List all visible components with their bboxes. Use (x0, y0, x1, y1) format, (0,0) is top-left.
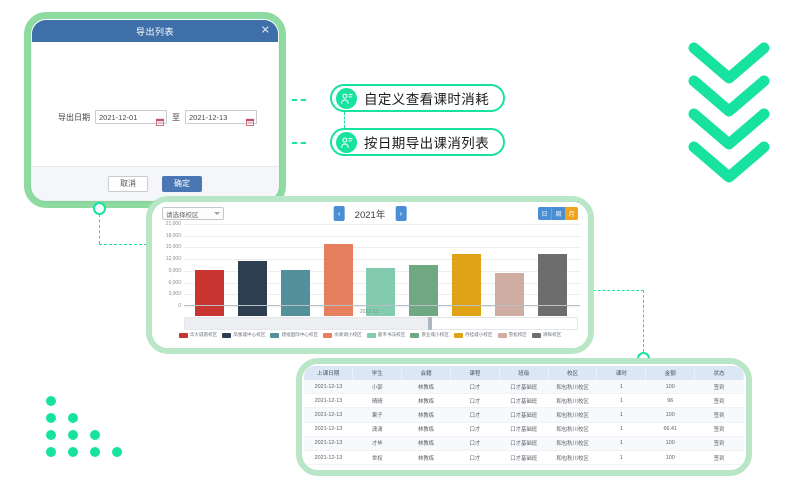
table-cell: 口才 (450, 450, 499, 464)
export-dialog: 导出列表 ✕ 导出日期 2021-12-01 至 2021-12-13 (32, 20, 278, 200)
calendar-icon[interactable] (246, 113, 254, 121)
table-column-header: 状态 (695, 366, 744, 380)
table-header-row: 上课日期学生会籍课程班级校区课时金额状态 (304, 366, 744, 380)
legend-label: 清晖校区 (543, 332, 561, 338)
table-cell: 和包秋川校区 (548, 380, 597, 394)
chart-toolbar: 请选择校区 ‹ 2021年 › 日 周 月 (152, 202, 588, 224)
table-column-header: 班级 (499, 366, 548, 380)
range-button-month[interactable]: 月 (565, 207, 578, 220)
callout-label: 按日期导出课消列表 (364, 132, 489, 152)
y-axis-tick: 12,000 (166, 256, 181, 262)
table-row[interactable]: 2021-12-13才毕林教练口才口才基础班和包秋川校区1100签到 (304, 436, 744, 450)
legend-swatch (222, 333, 231, 338)
year-label: 2021年 (355, 207, 386, 221)
export-date-row: 导出日期 2021-12-01 至 2021-12-13 (58, 110, 257, 124)
legend-item[interactable]: 建福国际中心校区 (270, 332, 318, 338)
bar[interactable] (495, 273, 524, 316)
table-cell: 口才 (450, 394, 499, 408)
table-cell: 100 (646, 380, 695, 394)
table-row[interactable]: 2021-12-13潇潇林教练口才口才基础班和包秋川校区166.41签到 (304, 422, 744, 436)
table-column-header: 学生 (353, 366, 402, 380)
legend-swatch (454, 333, 463, 338)
table-cell: 签到 (695, 450, 744, 464)
table-cell: 和包秋川校区 (548, 422, 597, 436)
table-cell: 口才基础班 (499, 380, 548, 394)
table-row[interactable]: 2021-12-13世权林教练口才口才基础班和包秋川校区1100签到 (304, 450, 744, 464)
table-cell: 2021-12-13 (304, 394, 353, 408)
callout-linker (344, 112, 345, 128)
legend-swatch (270, 333, 279, 338)
table-cell: 林教练 (402, 450, 451, 464)
bar[interactable] (281, 270, 310, 316)
table-cell: 口才 (450, 380, 499, 394)
table-cell: 口才 (450, 422, 499, 436)
table-cell: 1 (597, 450, 646, 464)
slider-fill (185, 318, 428, 329)
chevron-down-icon (686, 139, 772, 185)
records-table-panel: 上课日期学生会籍课程班级校区课时金额状态 2021-12-13小郭林教练口才口才… (304, 366, 744, 468)
legend-label: 雪松校区 (509, 332, 527, 338)
callout-tail-1 (292, 99, 306, 101)
y-axis-tick: 3,000 (168, 291, 181, 297)
callout-custom-view: 自定义查看课时消耗 (330, 84, 505, 112)
legend-item[interactable]: 丹桂城小校区 (454, 332, 493, 338)
grid-line (184, 224, 580, 225)
table-column-header: 课程 (450, 366, 499, 380)
date-to-value: 2021-12-13 (189, 113, 246, 122)
table-cell: 2021-12-13 (304, 436, 353, 450)
bar-series (188, 234, 574, 316)
table-cell: 签到 (695, 422, 744, 436)
table-cell: 和包秋川校区 (548, 436, 597, 450)
legend-label: 丹桂城小校区 (465, 332, 493, 338)
bar[interactable] (409, 265, 438, 316)
legend-item[interactable]: 景业城小校区 (410, 332, 449, 338)
date-to-input[interactable]: 2021-12-13 (185, 110, 257, 124)
table-cell: 1 (597, 394, 646, 408)
dialog-footer: 取消 确定 (32, 166, 278, 200)
table-cell: 和包秋川校区 (548, 408, 597, 422)
table-cell: 晴晴 (353, 394, 402, 408)
table-cell: 口才基础班 (499, 436, 548, 450)
legend-label: 华大城南校区 (190, 332, 218, 338)
export-date-label: 导出日期 (58, 112, 90, 123)
table-cell: 和包秋川校区 (548, 394, 597, 408)
chart-range-slider[interactable] (184, 317, 578, 330)
table-cell: 和包秋川校区 (548, 450, 597, 464)
table-column-header: 校区 (548, 366, 597, 380)
legend-label: 嘉禾书法校区 (378, 332, 406, 338)
table-cell: 林教练 (402, 394, 451, 408)
legend-swatch (179, 333, 188, 338)
table-cell: 小郭 (353, 380, 402, 394)
legend-label: 景业城小校区 (421, 332, 449, 338)
connector-dialog-horizontal (99, 244, 147, 245)
table-cell: 潇潇 (353, 422, 402, 436)
dot-decoration-group (46, 396, 132, 458)
user-check-icon (336, 88, 357, 109)
confirm-button[interactable]: 确定 (162, 176, 202, 193)
bar[interactable] (195, 270, 224, 316)
legend-item[interactable]: 华大城南校区 (179, 332, 218, 338)
connector-table-horizontal (588, 290, 644, 291)
table-cell: 口才 (450, 408, 499, 422)
bar[interactable] (538, 254, 567, 316)
canvas: 导出列表 ✕ 导出日期 2021-12-01 至 2021-12-13 (0, 0, 800, 500)
table-cell: 2021-12-13 (304, 380, 353, 394)
table-cell: 签到 (695, 408, 744, 422)
calendar-icon[interactable] (156, 113, 164, 121)
table-cell: 100 (646, 450, 695, 464)
legend-swatch (532, 333, 541, 338)
table-cell: 66.41 (646, 422, 695, 436)
date-range-separator: 至 (172, 112, 180, 123)
range-toggle-group: 日 周 月 (538, 207, 578, 220)
dialog-title: 导出列表 (136, 25, 174, 38)
table-cell: 口才基础班 (499, 408, 548, 422)
y-axis-tick: 21,000 (166, 221, 181, 227)
legend-item[interactable]: 嘉禾书法校区 (367, 332, 406, 338)
table-row[interactable]: 2021-12-13晴晴林教练口才口才基础班和包秋川校区196签到 (304, 394, 744, 408)
table-cell: 口才基础班 (499, 394, 548, 408)
table-cell: 口才基础班 (499, 422, 548, 436)
prev-year-button[interactable]: ‹ (334, 206, 345, 221)
table-body: 2021-12-13小郭林教练口才口才基础班和包秋川校区1100签到2021-1… (304, 380, 744, 465)
connector-table-vertical (643, 290, 644, 352)
y-axis-tick: 6,000 (168, 280, 181, 286)
bar-chart: 03,0006,0009,00012,00015,00018,00021,000… (158, 224, 580, 316)
connector-dialog-vertical (99, 214, 100, 244)
table-cell: 世权 (353, 450, 402, 464)
table-row[interactable]: 2021-12-13果子林教练口才口才基础班和包秋川校区1100签到 (304, 408, 744, 422)
user-check-icon (336, 132, 357, 153)
bar[interactable] (452, 254, 481, 316)
table-cell: 签到 (695, 380, 744, 394)
legend-item[interactable]: 凤凰城中心校区 (222, 332, 265, 338)
legend-swatch (410, 333, 419, 338)
table-cell: 1 (597, 422, 646, 436)
legend-label: 建福国际中心校区 (281, 332, 318, 338)
table-cell: 林教练 (402, 380, 451, 394)
next-year-button[interactable]: › (395, 206, 406, 221)
year-navigator: ‹ 2021年 › (334, 206, 407, 221)
table-cell: 口才基础班 (499, 450, 548, 464)
legend-item[interactable]: 清晖校区 (532, 332, 561, 338)
table-column-header: 金额 (646, 366, 695, 380)
table-cell: 林教练 (402, 422, 451, 436)
legend-item[interactable]: 雪松校区 (498, 332, 527, 338)
table-cell: 100 (646, 408, 695, 422)
table-cell: 100 (646, 436, 695, 450)
callout-export-by-date: 按日期导出课消列表 (330, 128, 505, 156)
table-column-header: 上课日期 (304, 366, 353, 380)
table-column-header: 课时 (597, 366, 646, 380)
table-cell: 签到 (695, 394, 744, 408)
y-axis: 03,0006,0009,00012,00015,00018,00021,000 (158, 224, 184, 306)
table-cell: 1 (597, 380, 646, 394)
table-cell: 1 (597, 436, 646, 450)
table-cell: 2021-12-13 (304, 422, 353, 436)
dialog-titlebar: 导出列表 ✕ (32, 20, 278, 42)
chart-legend: 华大城南校区凤凰城中心校区建福国际中心校区水果湖小校区嘉禾书法校区景业城小校区丹… (152, 332, 588, 338)
legend-swatch (498, 333, 507, 338)
legend-swatch (367, 333, 376, 338)
table-cell: 林教练 (402, 408, 451, 422)
table-column-header: 会籍 (402, 366, 451, 380)
chevron-decoration-group (686, 40, 782, 190)
campus-select[interactable]: 请选择校区 (162, 207, 224, 220)
chevron-down-icon (214, 212, 220, 215)
table-cell: 96 (646, 394, 695, 408)
y-axis-tick: 15,000 (166, 244, 181, 250)
table-cell: 口才 (450, 436, 499, 450)
bar[interactable] (238, 261, 267, 316)
table-cell: 才毕 (353, 436, 402, 450)
range-button-day[interactable]: 日 (538, 207, 551, 220)
y-axis-tick: 0 (178, 303, 181, 309)
table-cell: 果子 (353, 408, 402, 422)
legend-label: 凤凰城中心校区 (233, 332, 265, 338)
range-button-week[interactable]: 周 (551, 207, 565, 220)
x-axis-label: 2021-12 (360, 309, 378, 315)
date-from-value: 2021-12-01 (99, 113, 156, 122)
callout-label: 自定义查看课时消耗 (364, 88, 489, 108)
table-cell: 签到 (695, 436, 744, 450)
table-cell: 1 (597, 408, 646, 422)
chart-panel: 请选择校区 ‹ 2021年 › 日 周 月 03,0006,0009,00012… (152, 202, 588, 348)
close-icon[interactable]: ✕ (261, 26, 270, 37)
table-cell: 2021-12-13 (304, 408, 353, 422)
callout-tail-2 (292, 142, 306, 144)
date-from-input[interactable]: 2021-12-01 (95, 110, 167, 124)
table-cell: 2021-12-13 (304, 450, 353, 464)
y-axis-tick: 18,000 (166, 233, 181, 239)
legend-label: 水果湖小校区 (334, 332, 362, 338)
y-axis-tick: 9,000 (168, 268, 181, 274)
x-axis-line (184, 305, 580, 306)
records-table: 上课日期学生会籍课程班级校区课时金额状态 2021-12-13小郭林教练口才口才… (304, 366, 744, 465)
legend-item[interactable]: 水果湖小校区 (323, 332, 362, 338)
campus-select-value: 请选择校区 (166, 209, 214, 219)
dialog-body: 导出日期 2021-12-01 至 2021-12-13 (32, 42, 278, 166)
legend-swatch (323, 333, 332, 338)
table-cell: 林教练 (402, 436, 451, 450)
slider-handle-icon[interactable] (428, 317, 432, 330)
cancel-button[interactable]: 取消 (108, 176, 148, 193)
table-row[interactable]: 2021-12-13小郭林教练口才口才基础班和包秋川校区1100签到 (304, 380, 744, 394)
